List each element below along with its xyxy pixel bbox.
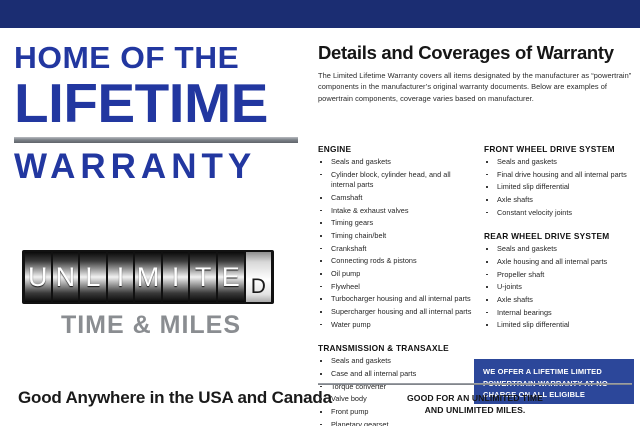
bottom-tagline: GOOD FOR AN UNLIMITED TIME AND UNLIMITED… [318,392,632,417]
list-item: Axle housing and all internal parts [484,257,639,268]
odometer-caption: TIME & MILES [22,311,280,340]
section-title-transmission: TRANSMISSION & TRANSAXLE [318,343,473,353]
top-navy-band [0,0,640,28]
list-item: Seals and gaskets [318,356,473,367]
odometer-char: U [28,264,48,291]
hero-line-lifetime: LIFETIME [14,75,307,131]
odometer-char: L [85,264,100,291]
odometer-graphic: U N L I M I T E D TIME & MILES [22,250,280,340]
odometer-cell: L [80,252,106,302]
list-item: Internal bearings [484,308,639,319]
odometer-cell-rolling: D [246,252,272,302]
list-item: Axle shafts [484,195,639,206]
odometer-char: N [56,264,76,291]
list-item: Camshaft [318,193,473,204]
odometer-char: D [251,276,266,297]
warranty-flyer-page: HOME OF THE LIFETIME WARRANTY U N L I M … [0,0,640,426]
list-item: Limited slip differential [484,182,639,193]
odometer-cell: N [53,252,79,302]
odometer-char: I [172,264,180,291]
odometer-cell: M [135,252,161,302]
list-item: Timing chain/belt [318,231,473,242]
list-item: Connecting rods & pistons [318,256,473,267]
right-details-panel: Details and Coverages of Warranty The Li… [306,28,640,426]
list-item: Case and all internal parts [318,369,473,380]
list-item: Planetary gearset [318,420,473,426]
flyer-body: HOME OF THE LIFETIME WARRANTY U N L I M … [0,28,640,426]
bottom-tagline-line-1: GOOD FOR AN UNLIMITED TIME [318,392,632,404]
section-title-front-wheel-drive: FRONT WHEEL DRIVE SYSTEM [484,144,639,154]
odometer-char: E [222,264,240,291]
list-item: Supercharger housing and all internal pa… [318,307,473,318]
section-title-engine: ENGINE [318,144,473,154]
list-item: U-joints [484,282,639,293]
engine-item-list: Seals and gaskets Cylinder block, cylind… [318,157,473,330]
list-item: Oil pump [318,269,473,280]
list-item: Propeller shaft [484,270,639,281]
odometer-char: M [137,264,160,291]
odometer-char: I [117,264,125,291]
list-item: Flywheel [318,282,473,293]
odometer-cell: E [218,252,244,302]
list-item: Water pump [318,320,473,331]
hero-line-warranty: WARRANTY [14,149,298,184]
odometer-cell: I [163,252,189,302]
list-item: Intake & exhaust valves [318,206,473,217]
rear-wheel-drive-item-list: Seals and gaskets Axle housing and all i… [484,244,639,331]
list-item: Final drive housing and all internal par… [484,170,639,181]
section-spacer [318,332,473,343]
page-title: Details and Coverages of Warranty [318,42,614,64]
section-spacer [484,220,639,231]
section-title-rear-wheel-drive: REAR WHEEL DRIVE SYSTEM [484,231,639,241]
callout-line-1: WE OFFER A LIFETIME LIMITED [483,366,625,378]
intro-paragraph: The Limited Lifetime Warranty covers all… [318,70,634,104]
coverage-region-note: Good Anywhere in the USA and Canada [18,388,300,408]
hero-line-home-of-the: HOME OF THE [14,42,304,73]
list-item: Constant velocity joints [484,208,639,219]
front-wheel-drive-item-list: Seals and gaskets Final drive housing an… [484,157,639,218]
list-item: Seals and gaskets [318,157,473,168]
odometer-cell: I [108,252,134,302]
odometer-cell: T [190,252,216,302]
bottom-tagline-line-2: AND UNLIMITED MILES. [318,404,632,416]
hero-divider-rule [14,137,298,143]
bottom-divider-rule [318,383,632,385]
list-item: Axle shafts [484,295,639,306]
list-item: Timing gears [318,218,473,229]
list-item: Crankshaft [318,244,473,255]
list-item: Seals and gaskets [484,157,639,168]
hero-lockup: HOME OF THE LIFETIME WARRANTY [14,42,298,184]
list-item: Seals and gaskets [484,244,639,255]
odometer-reel: U N L I M I T E D [22,250,274,304]
list-item: Cylinder block, cylinder head, and all i… [318,170,473,191]
odometer-cell: U [25,252,51,302]
odometer-char: T [195,264,212,291]
list-item: Limited slip differential [484,320,639,331]
left-branding-panel: HOME OF THE LIFETIME WARRANTY U N L I M … [0,28,306,426]
list-item: Turbocharger housing and all internal pa… [318,294,473,305]
